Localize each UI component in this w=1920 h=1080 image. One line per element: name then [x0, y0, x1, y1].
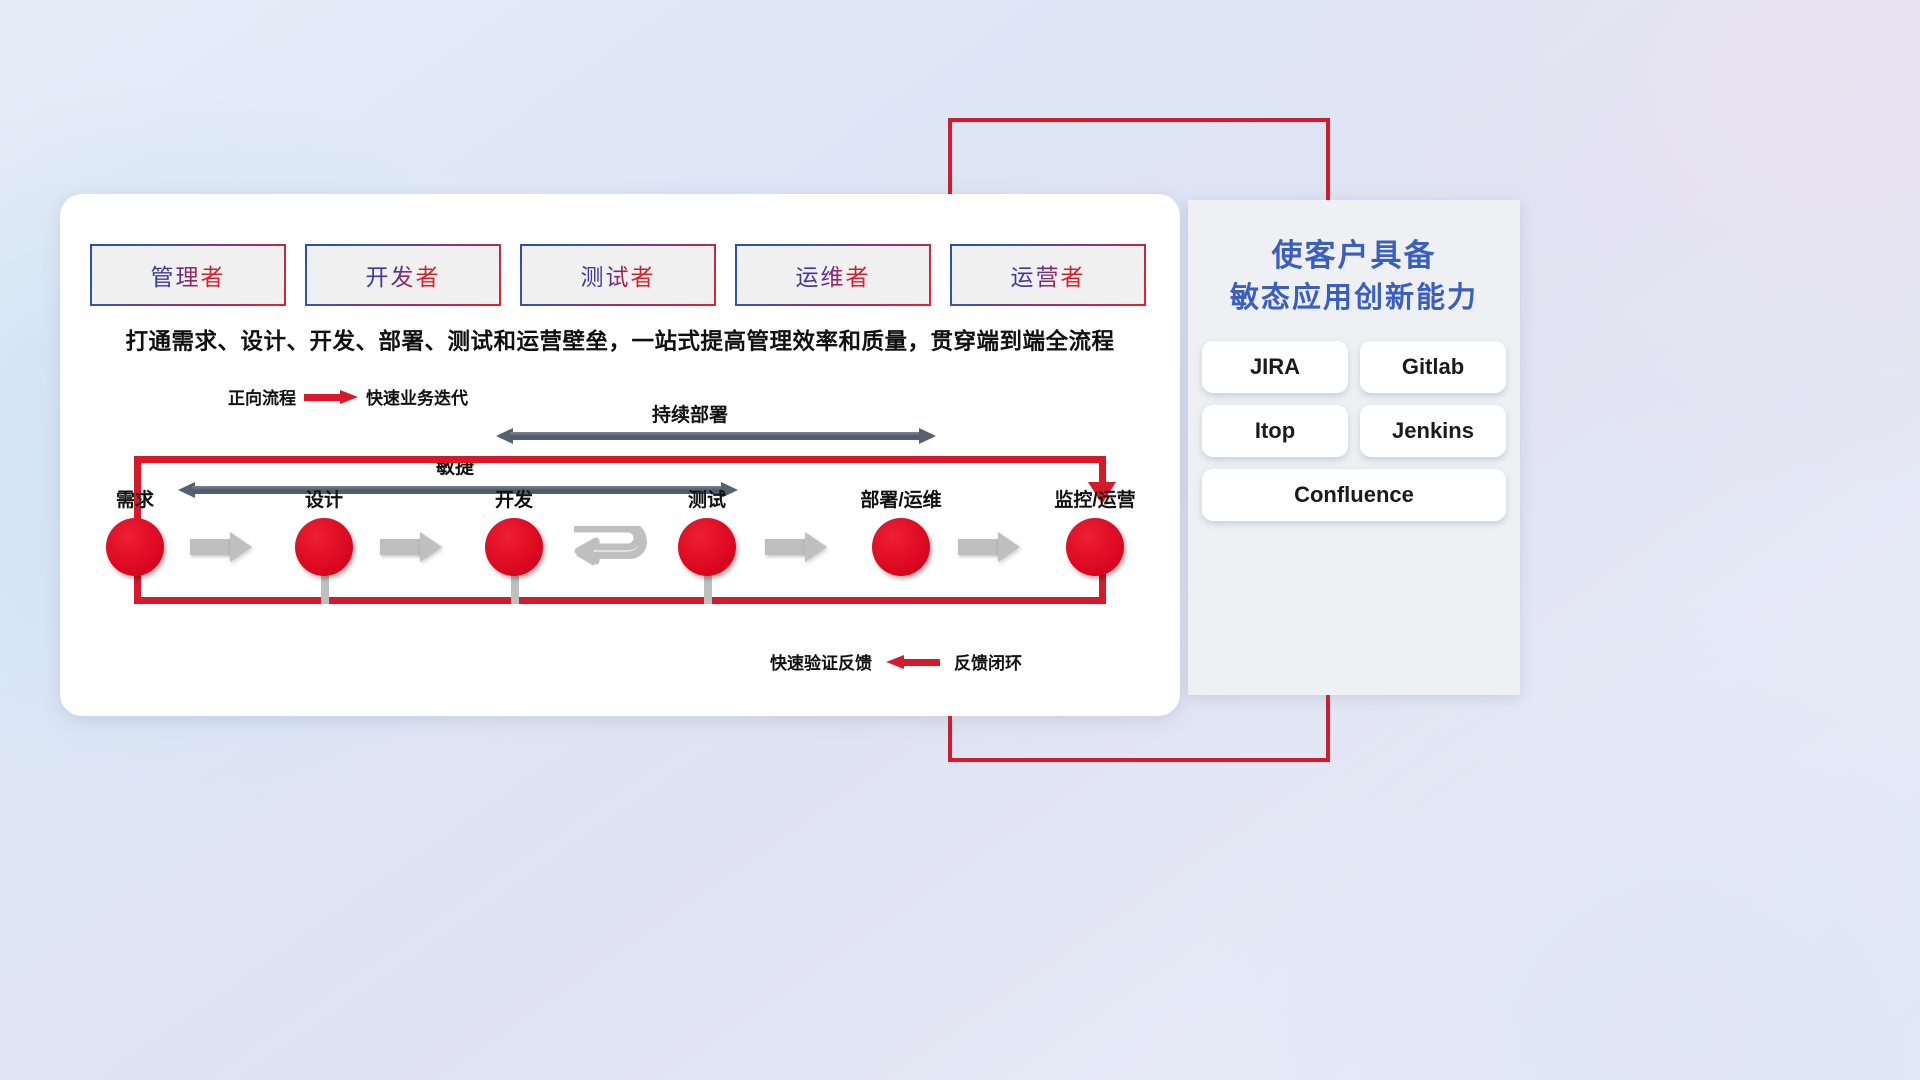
pipeline-node-monitor-operation[interactable]: 监控/运营 [1066, 518, 1124, 576]
role-box-manager[interactable]: 管理者 [92, 246, 284, 304]
node-circle [106, 518, 164, 576]
gray-loopback-arrow-icon [572, 526, 652, 572]
pipeline-node-label: 监控/运营 [1054, 485, 1135, 512]
tool-chip-itop[interactable]: Itop [1202, 405, 1348, 457]
role-box-ops[interactable]: 运维者 [737, 246, 929, 304]
tool-chip-jenkins[interactable]: Jenkins [1360, 405, 1506, 457]
right-panel-title-line2: 敏态应用创新能力 [1188, 278, 1520, 319]
pipeline-node-label: 设计 [305, 485, 343, 512]
node-circle [485, 518, 543, 576]
pipeline-node-deploy-ops[interactable]: 部署/运维 [872, 518, 930, 576]
right-panel-title: 使客户具备 敏态应用创新能力 [1188, 234, 1520, 319]
role-label: 运维者 [796, 258, 871, 292]
pipeline-node-design[interactable]: 设计 [295, 518, 353, 576]
gray-right-arrow-icon [958, 532, 1020, 562]
tool-chip-list: JIRA Gitlab Itop Jenkins Confluence [1202, 341, 1506, 521]
role-box-developer[interactable]: 开发者 [307, 246, 499, 304]
tool-chip-confluence[interactable]: Confluence [1202, 469, 1506, 521]
pipeline-node-label: 开发 [495, 485, 533, 512]
role-box-tester[interactable]: 测试者 [522, 246, 714, 304]
node-circle [678, 518, 736, 576]
gray-right-arrow-icon [380, 532, 442, 562]
pipeline-node-label: 测试 [688, 485, 726, 512]
role-label: 管理者 [151, 258, 226, 292]
role-label: 测试者 [581, 258, 656, 292]
role-box-operation[interactable]: 运营者 [952, 246, 1144, 304]
right-tools-panel: 使客户具备 敏态应用创新能力 JIRA Gitlab Itop Jenkins … [1188, 200, 1520, 695]
pipeline-node-development[interactable]: 开发 [485, 518, 543, 576]
right-panel-title-line1: 使客户具备 [1188, 234, 1520, 278]
slide-canvas: 管理者 开发者 测试者 运维者 运营者 打通需求、设计、开发、部署、测试和运营壁… [0, 0, 1920, 1080]
tool-chip-jira[interactable]: JIRA [1202, 341, 1348, 393]
role-box-row: 管理者 开发者 测试者 运维者 运营者 [92, 246, 1144, 304]
gray-right-arrow-icon [765, 532, 827, 562]
role-label: 运营者 [1011, 258, 1086, 292]
main-content-card: 管理者 开发者 测试者 运维者 运营者 打通需求、设计、开发、部署、测试和运营壁… [60, 194, 1180, 716]
tool-chip-gitlab[interactable]: Gitlab [1360, 341, 1506, 393]
node-circle [1066, 518, 1124, 576]
pipeline-node-label: 部署/运维 [860, 485, 941, 512]
role-label: 开发者 [366, 258, 441, 292]
pipeline-node-label: 需求 [116, 485, 154, 512]
gray-right-arrow-icon [190, 532, 252, 562]
node-circle [295, 518, 353, 576]
node-circle [872, 518, 930, 576]
pipeline-node-requirement[interactable]: 需求 [106, 518, 164, 576]
pipeline-node-testing[interactable]: 测试 [678, 518, 736, 576]
